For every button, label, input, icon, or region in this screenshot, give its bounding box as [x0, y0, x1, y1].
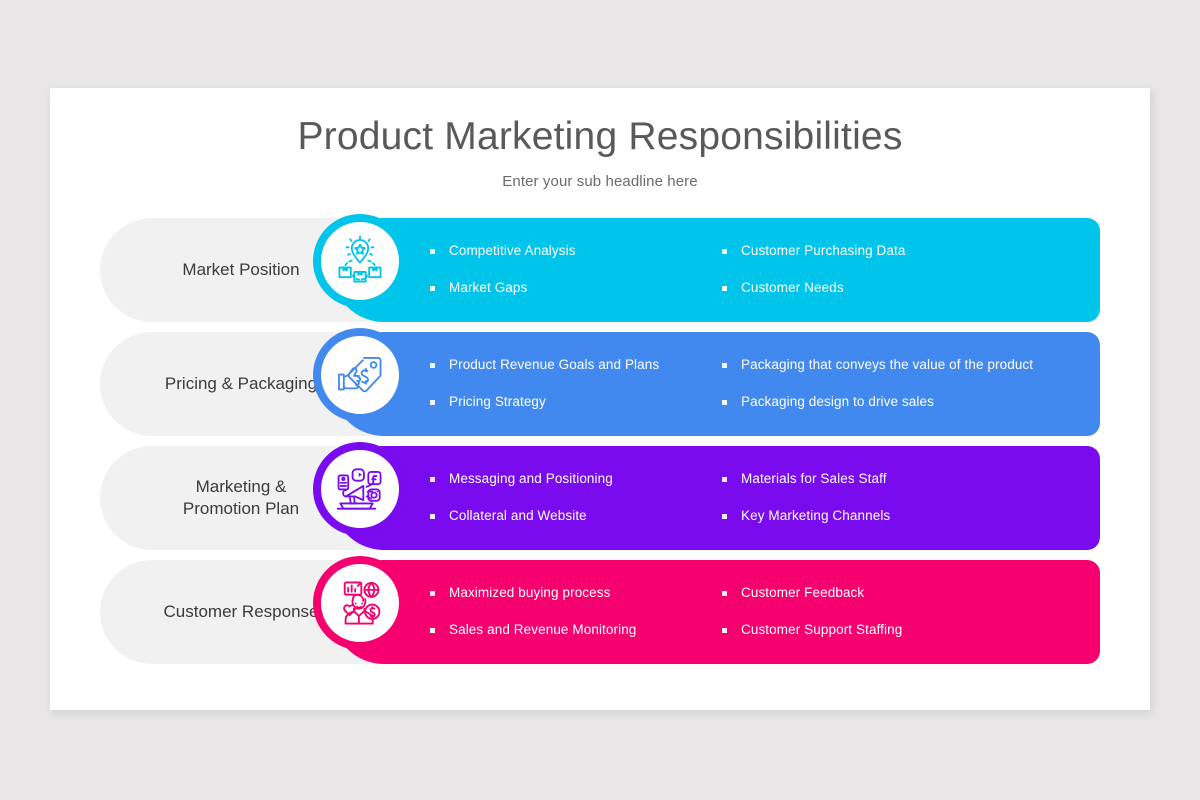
bullet-marker-icon: [430, 591, 435, 596]
list-item: Packaging that conveys the value of the …: [722, 357, 1086, 374]
list-item: Market Gaps: [430, 280, 722, 297]
bullet-marker-icon: [430, 628, 435, 633]
bullet-marker-icon: [722, 286, 727, 291]
bullet-text: Customer Support Staffing: [741, 622, 902, 639]
bullet-text: Key Marketing Channels: [741, 508, 890, 525]
row-marketing-promotion[interactable]: Marketing & Promotion Plan: [100, 446, 1100, 550]
list-item: Key Marketing Channels: [722, 508, 1086, 525]
bullet-text: Packaging that conveys the value of the …: [741, 357, 1033, 374]
bullet-marker-icon: [430, 363, 435, 368]
bullet-column-right: Customer Purchasing Data Customer Needs: [722, 243, 1086, 297]
bullet-marker-icon: [430, 400, 435, 405]
bullet-marker-icon: [722, 628, 727, 633]
bullet-marker-icon: [722, 400, 727, 405]
list-item: Competitive Analysis: [430, 243, 722, 260]
bullet-marker-icon: [722, 363, 727, 368]
bullet-text: Messaging and Positioning: [449, 471, 613, 488]
row-market-position[interactable]: Market Position: [100, 218, 1100, 322]
bullet-text: Packaging design to drive sales: [741, 394, 934, 411]
bullet-column-left: Product Revenue Goals and Plans Pricing …: [430, 357, 722, 411]
list-item: Sales and Revenue Monitoring: [430, 622, 722, 639]
row-bullets: Maximized buying process Sales and Reven…: [430, 560, 1086, 664]
list-item: Customer Purchasing Data: [722, 243, 1086, 260]
list-item: Pricing Strategy: [430, 394, 722, 411]
bullet-marker-icon: [430, 286, 435, 291]
list-item: Packaging design to drive sales: [722, 394, 1086, 411]
bullet-text: Customer Purchasing Data: [741, 243, 905, 260]
bullet-column-right: Packaging that conveys the value of the …: [722, 357, 1086, 411]
bullet-text: Sales and Revenue Monitoring: [449, 622, 636, 639]
bullet-marker-icon: [722, 514, 727, 519]
list-item: Messaging and Positioning: [430, 471, 722, 488]
slide-header: Product Marketing Responsibilities Enter…: [50, 88, 1150, 190]
bullet-column-left: Competitive Analysis Market Gaps: [430, 243, 722, 297]
customer-response-icon: [313, 556, 407, 650]
bullet-text: Market Gaps: [449, 280, 527, 297]
bullet-marker-icon: [430, 477, 435, 482]
bullet-column-right: Materials for Sales Staff Key Marketing …: [722, 471, 1086, 525]
responsibility-rows: Market Position: [100, 218, 1100, 674]
bullet-text: Maximized buying process: [449, 585, 610, 602]
bullet-text: Pricing Strategy: [449, 394, 546, 411]
list-item: Product Revenue Goals and Plans: [430, 357, 722, 374]
pricing-packaging-icon: [313, 328, 407, 422]
bullet-text: Product Revenue Goals and Plans: [449, 357, 659, 374]
bullet-column-right: Customer Feedback Customer Support Staff…: [722, 585, 1086, 639]
bullet-text: Collateral and Website: [449, 508, 587, 525]
row-bullets: Competitive Analysis Market Gaps Custome…: [430, 218, 1086, 322]
row-bullets: Product Revenue Goals and Plans Pricing …: [430, 332, 1086, 436]
row-bullets: Messaging and Positioning Collateral and…: [430, 446, 1086, 550]
page-title: Product Marketing Responsibilities: [50, 114, 1150, 161]
marketing-promotion-icon: [313, 442, 407, 536]
bullet-marker-icon: [722, 477, 727, 482]
bullet-marker-icon: [722, 249, 727, 254]
bullet-text: Competitive Analysis: [449, 243, 576, 260]
bullet-column-left: Messaging and Positioning Collateral and…: [430, 471, 722, 525]
bullet-column-left: Maximized buying process Sales and Reven…: [430, 585, 722, 639]
slide-canvas: Product Marketing Responsibilities Enter…: [50, 88, 1150, 710]
page-subtitle: Enter your sub headline here: [50, 173, 1150, 190]
list-item: Customer Support Staffing: [722, 622, 1086, 639]
list-item: Customer Needs: [722, 280, 1086, 297]
bullet-marker-icon: [430, 514, 435, 519]
bullet-text: Customer Needs: [741, 280, 844, 297]
list-item: Collateral and Website: [430, 508, 722, 525]
list-item: Customer Feedback: [722, 585, 1086, 602]
bullet-text: Customer Feedback: [741, 585, 864, 602]
list-item: Materials for Sales Staff: [722, 471, 1086, 488]
row-pricing-packaging[interactable]: Pricing & Packaging: [100, 332, 1100, 436]
bullet-marker-icon: [430, 249, 435, 254]
bullet-marker-icon: [722, 591, 727, 596]
market-position-icon: [313, 214, 407, 308]
list-item: Maximized buying process: [430, 585, 722, 602]
row-customer-response[interactable]: Customer Response: [100, 560, 1100, 664]
bullet-text: Materials for Sales Staff: [741, 471, 887, 488]
